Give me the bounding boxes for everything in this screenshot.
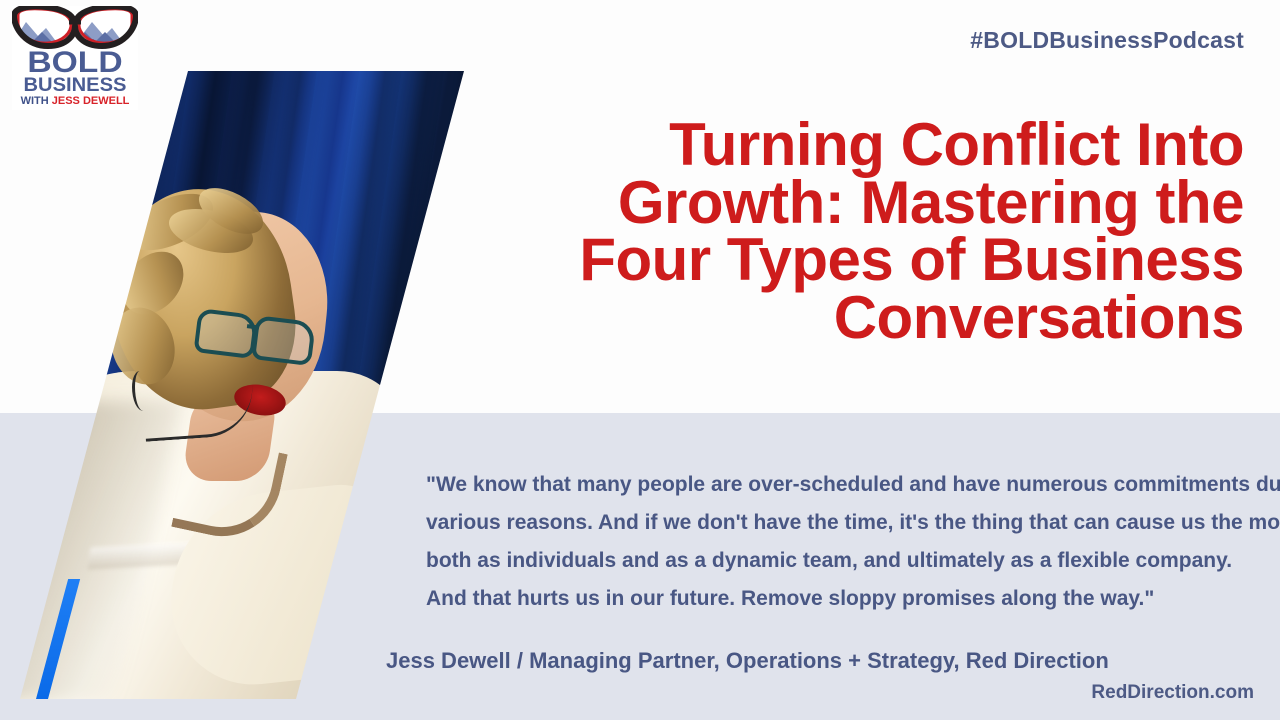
logo-tagline-name: JESS DEWELL	[52, 95, 130, 107]
title-line: Four Types of Business	[454, 231, 1244, 289]
quote-line: various reasons. And if we don't have th…	[426, 504, 1280, 542]
logo-line-bold: BOLD	[4, 48, 145, 78]
lens-right	[251, 315, 316, 366]
pull-quote: "We know that many people are over-sched…	[426, 466, 1280, 618]
website-url[interactable]: RedDirection.com	[1091, 682, 1254, 704]
quote-line: "We know that many people are over-sched…	[426, 466, 1280, 504]
bold-business-logo[interactable]: BOLD BUSINESS WITH JESS DEWELL	[12, 6, 138, 110]
quote-line: And that hurts us in our future. Remove …	[426, 580, 1280, 618]
title-line: Growth: Mastering the	[454, 174, 1244, 232]
logo-tagline-with: WITH	[21, 95, 52, 107]
podcast-hashtag: #BOLDBusinessPodcast	[970, 27, 1244, 54]
quote-attribution: Jess Dewell / Managing Partner, Operatio…	[386, 648, 1109, 674]
logo-tagline: WITH JESS DEWELL	[12, 96, 138, 107]
logo-line-business: BUSINESS	[8, 76, 142, 95]
episode-title: Turning Conflict Into Growth: Mastering …	[454, 116, 1244, 346]
lens-left	[194, 308, 259, 359]
title-line: Turning Conflict Into	[454, 116, 1244, 174]
podcast-title-card: BOLD BUSINESS WITH JESS DEWELL #BOLDBusi…	[0, 0, 1280, 720]
quote-line: both as individuals and as a dynamic tea…	[426, 542, 1280, 580]
title-line: Conversations	[454, 289, 1244, 347]
